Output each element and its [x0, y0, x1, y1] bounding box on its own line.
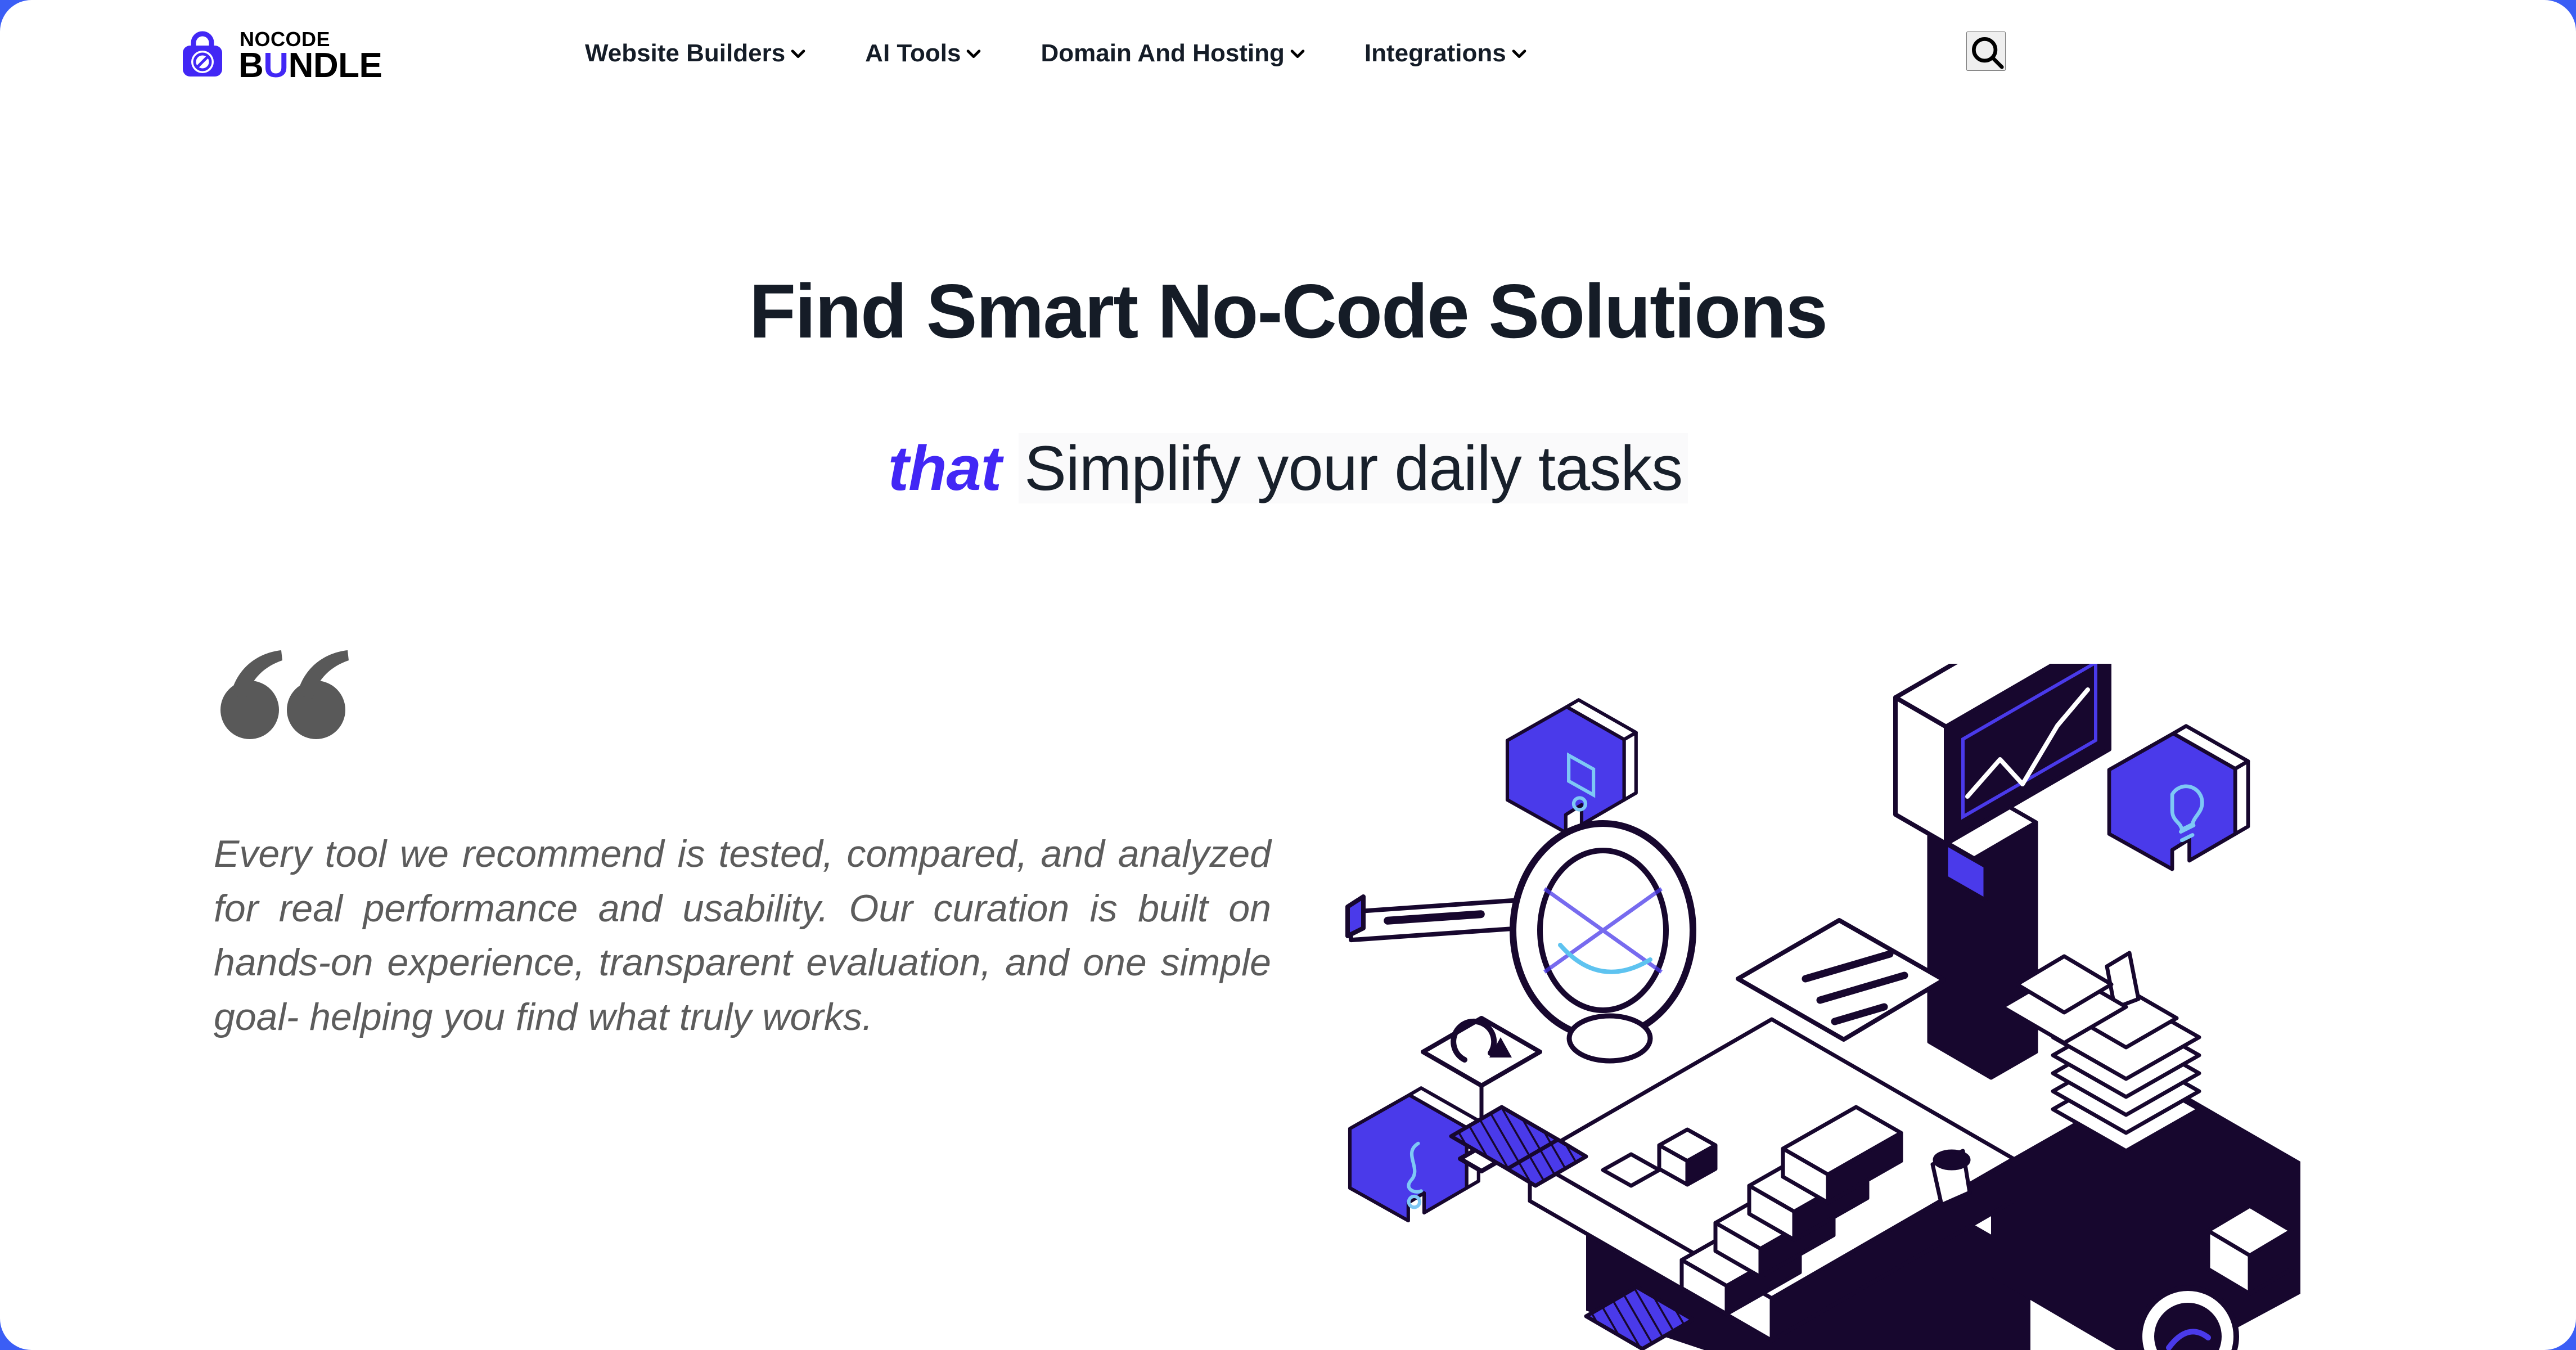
site-logo[interactable]: NOCODE BUNDLE: [179, 33, 382, 78]
nav-item-website-builders[interactable]: Website Builders: [585, 35, 808, 72]
subtitle-rest: Simplify your daily tasks: [1019, 433, 1688, 503]
nav-label-website-builders: Website Builders: [585, 39, 785, 67]
nav-item-ai-tools[interactable]: AI Tools: [865, 35, 983, 72]
isometric-workspace-illustration: [1344, 664, 2334, 1350]
nav-label-ai-tools: AI Tools: [865, 39, 961, 67]
page-subtitle: that Simplify your daily tasks: [0, 427, 2576, 510]
logo-wordmark: NOCODE BUNDLE: [238, 29, 382, 82]
quote-mark-icon: [214, 647, 1282, 754]
nav-label-domain-and-hosting: Domain And Hosting: [1041, 39, 1284, 67]
nocode-bundle-lock-bag-icon: [179, 30, 226, 80]
nav-item-domain-and-hosting[interactable]: Domain And Hosting: [1041, 35, 1307, 72]
primary-navigation: Website Builders AI Tools: [585, 35, 1529, 72]
site-header: NOCODE BUNDLE Website Builders AI Tools: [0, 0, 2576, 104]
logo-u-accent: U: [263, 46, 288, 85]
chevron-down-icon: [1288, 44, 1307, 63]
content-sheet: NOCODE BUNDLE Website Builders AI Tools: [0, 0, 2576, 1350]
search-icon[interactable]: [1966, 31, 2006, 71]
chevron-down-icon: [964, 44, 983, 63]
quote-text: Every tool we recommend is tested, compa…: [214, 827, 1271, 1044]
logo-text-bottom: BUNDLE: [238, 51, 382, 82]
quote-block: Every tool we recommend is tested, compa…: [214, 647, 1282, 1044]
subtitle-accent-word: that: [888, 433, 1001, 503]
chevron-down-icon: [789, 44, 808, 63]
page-title: Find Smart No-Code Solutions: [0, 270, 2576, 353]
nav-label-integrations: Integrations: [1364, 39, 1506, 67]
nav-item-integrations[interactable]: Integrations: [1364, 35, 1529, 72]
chevron-down-icon: [1510, 44, 1529, 63]
logo-b: B: [238, 46, 263, 85]
page-root: NOCODE BUNDLE Website Builders AI Tools: [0, 0, 2576, 1350]
logo-ndle: NDLE: [289, 46, 382, 85]
